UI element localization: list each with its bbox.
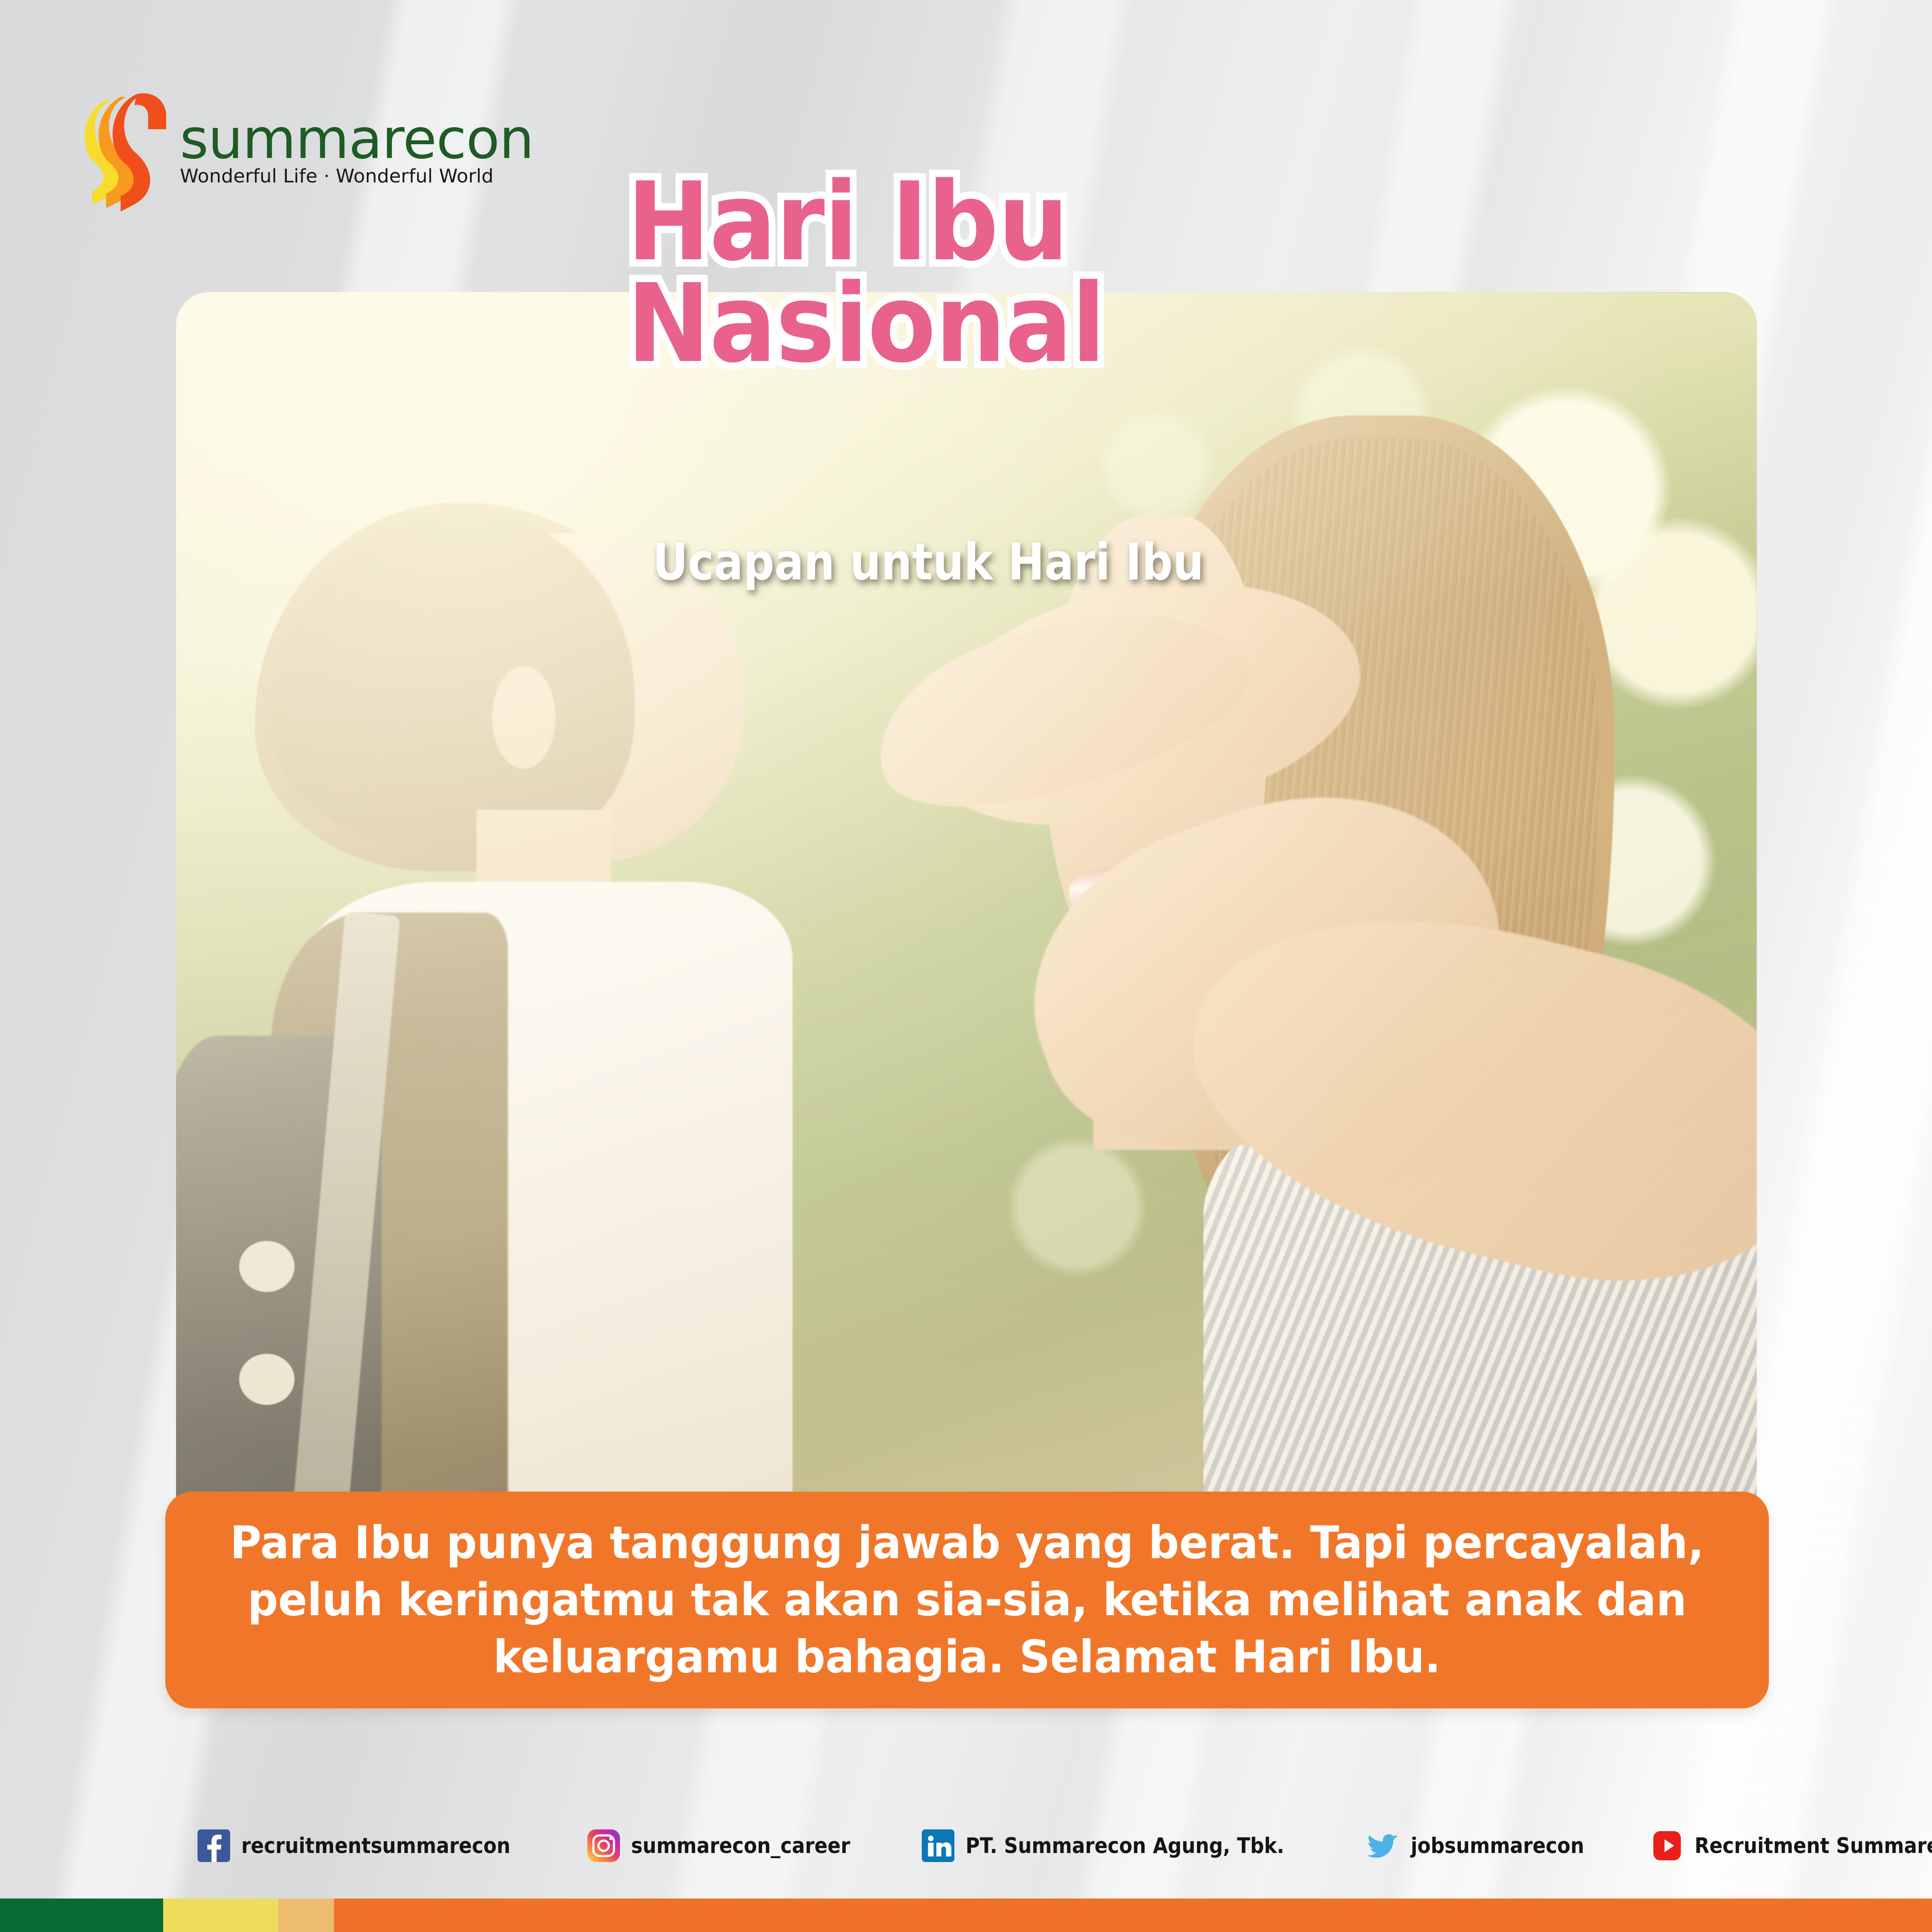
poster-canvas: summarecon Wonderful Life · Wonderful Wo… [0, 0, 1932, 1932]
summarecon-swirl-logo-icon [84, 88, 170, 212]
hero-title-line-2: Nasional [627, 273, 1417, 375]
hero-subtitle: Ucapan untuk Hari Ibu [653, 532, 1204, 591]
youtube-handle: Recruitment Summarecon [1695, 1833, 1932, 1858]
linkedin-handle: PT. Summarecon Agung, Tbk. [966, 1833, 1284, 1858]
photo-haze-overlay [176, 292, 1757, 1528]
logo-wordmark: summarecon [180, 107, 534, 171]
bottom-bar-segment-tan [278, 1899, 334, 1932]
hero-title-line-1: Hari Ibu [627, 172, 1417, 273]
linkedin-icon [922, 1829, 954, 1862]
twitter-icon [1367, 1829, 1400, 1862]
facebook-handle: recruitmentsummarecon [241, 1833, 510, 1858]
bottom-bar-segment-yellow [163, 1899, 278, 1932]
quote-banner: Para Ibu punya tanggung jawab yang berat… [165, 1492, 1769, 1708]
summarecon-logo[interactable]: summarecon Wonderful Life · Wonderful Wo… [84, 88, 513, 212]
hero-photo [176, 292, 1757, 1528]
social-linkedin[interactable]: PT. Summarecon Agung, Tbk. [922, 1829, 1320, 1862]
bottom-bar-segment-green [0, 1899, 163, 1932]
facebook-icon [197, 1829, 230, 1862]
twitter-handle: jobsummarecon [1411, 1833, 1584, 1858]
quote-text: Para Ibu punya tanggung jawab yang berat… [197, 1514, 1737, 1686]
bottom-color-bar [0, 1899, 1932, 1932]
social-instagram[interactable]: summarecon_career [587, 1829, 875, 1862]
instagram-handle: summarecon_career [631, 1833, 850, 1858]
social-twitter[interactable]: jobsummarecon [1367, 1829, 1604, 1862]
logo-text: summarecon Wonderful Life · Wonderful Wo… [180, 113, 534, 188]
social-facebook[interactable]: recruitmentsummarecon [197, 1829, 540, 1862]
youtube-icon [1651, 1829, 1683, 1862]
social-youtube[interactable]: Recruitment Summarecon [1651, 1829, 1932, 1862]
hero-title: Hari Ibu Nasional [627, 172, 1485, 375]
footer-social-bar: recruitmentsummarecon [197, 1820, 1786, 1871]
logo-tagline: Wonderful Life · Wonderful World [180, 165, 494, 187]
instagram-icon [587, 1829, 620, 1862]
bottom-bar-segment-orange [334, 1899, 1932, 1932]
photo-content [176, 292, 1757, 1528]
